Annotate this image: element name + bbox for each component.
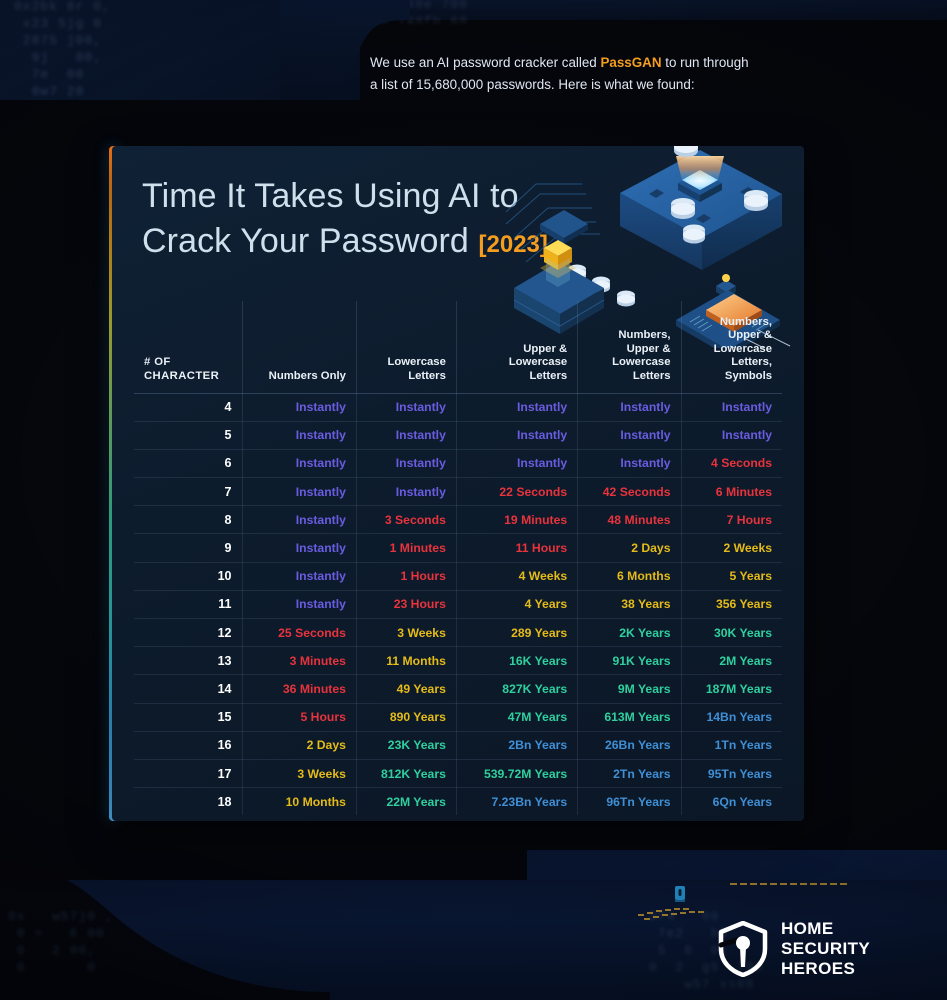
crack-time-cell-0: 5 Hours — [242, 703, 356, 731]
crack-time-cell-2: 11 Hours — [456, 534, 577, 562]
logo-line-1: HOME — [781, 919, 870, 939]
char-count-cell: 6 — [134, 449, 242, 477]
shield-keyhole-icon — [718, 921, 768, 977]
crack-time-cell-3: 96Tn Years — [578, 788, 681, 816]
char-count-cell: 8 — [134, 506, 242, 534]
logo-line-3: HEROES — [781, 959, 870, 979]
crack-time-cell-3: 9M Years — [578, 675, 681, 703]
crack-time-cell-2: Instantly — [456, 421, 577, 449]
crack-time-cell-1: 49 Years — [356, 675, 456, 703]
crack-time-cell-3: Instantly — [578, 421, 681, 449]
char-count-cell: 10 — [134, 562, 242, 590]
column-header-2: LowercaseLetters — [356, 301, 456, 393]
crack-time-cell-3: 91K Years — [578, 647, 681, 675]
table-body: 4InstantlyInstantlyInstantlyInstantlyIns… — [134, 393, 782, 815]
crack-time-cell-4: 5 Years — [681, 562, 782, 590]
logo-line-2: SECURITY — [781, 939, 870, 959]
table-header-row: # OFCHARACTERNumbers OnlyLowercaseLetter… — [134, 301, 782, 393]
bottom-left-code-text: 0x w57j0 , 0 = 6 00 0 2 00, 0 0 — [8, 908, 338, 998]
intro-line2: a list of 15,680,000 passwords. Here is … — [370, 77, 695, 92]
table-row: 9Instantly1 Minutes11 Hours2 Days2 Weeks — [134, 534, 782, 562]
crack-time-cell-3: 38 Years — [578, 590, 681, 618]
password-crack-time-table: # OFCHARACTERNumbers OnlyLowercaseLetter… — [134, 301, 782, 815]
table-row: 4InstantlyInstantlyInstantlyInstantlyIns… — [134, 393, 782, 421]
crack-time-cell-4: 1Tn Years — [681, 731, 782, 759]
table-row: 1436 Minutes49 Years827K Years9M Years18… — [134, 675, 782, 703]
char-count-cell: 4 — [134, 393, 242, 421]
crack-time-cell-1: 1 Minutes — [356, 534, 456, 562]
blue-chip-marker-icon — [670, 882, 690, 906]
char-count-cell: 5 — [134, 421, 242, 449]
crack-time-cell-4: 6Qn Years — [681, 788, 782, 816]
table-row: 11Instantly23 Hours4 Years38 Years356 Ye… — [134, 590, 782, 618]
crack-time-cell-1: Instantly — [356, 449, 456, 477]
table-row: 155 Hours890 Years47M Years613M Years14B… — [134, 703, 782, 731]
crack-time-cell-1: 3 Weeks — [356, 619, 456, 647]
crack-time-cell-1: Instantly — [356, 478, 456, 506]
gold-dash-cluster-right — [730, 876, 870, 892]
crack-time-cell-1: 890 Years — [356, 703, 456, 731]
crack-time-cell-0: Instantly — [242, 421, 356, 449]
crack-time-cell-3: Instantly — [578, 393, 681, 421]
crack-time-cell-1: 22M Years — [356, 788, 456, 816]
crack-time-cell-0: 2 Days — [242, 731, 356, 759]
crack-time-cell-4: 7 Hours — [681, 506, 782, 534]
char-count-cell: 15 — [134, 703, 242, 731]
table-row: 162 Days23K Years2Bn Years26Bn Years1Tn … — [134, 731, 782, 759]
crack-time-cell-0: 10 Months — [242, 788, 356, 816]
crack-time-cell-2: 22 Seconds — [456, 478, 577, 506]
char-count-cell: 18 — [134, 788, 242, 816]
table-row: 1810 Months22M Years7.23Bn Years96Tn Yea… — [134, 788, 782, 816]
crack-time-cell-0: Instantly — [242, 590, 356, 618]
passgan-brand-label: PassGAN — [600, 55, 661, 70]
crack-time-cell-1: 812K Years — [356, 759, 456, 787]
server-platform-small-top — [540, 210, 588, 244]
intro-paragraph: We use an AI password cracker called Pas… — [370, 52, 770, 96]
crack-time-cell-4: Instantly — [681, 421, 782, 449]
brand-logo[interactable]: HOME SECURITY HEROES — [718, 918, 893, 980]
crack-time-cell-3: 42 Seconds — [578, 478, 681, 506]
crack-time-cell-0: Instantly — [242, 393, 356, 421]
crack-time-cell-4: 187M Years — [681, 675, 782, 703]
crack-time-cell-2: 16K Years — [456, 647, 577, 675]
table-row: 6InstantlyInstantlyInstantlyInstantly4 S… — [134, 449, 782, 477]
table-row: 8Instantly3 Seconds19 Minutes48 Minutes7… — [134, 506, 782, 534]
crack-time-cell-4: 356 Years — [681, 590, 782, 618]
crack-time-cell-1: Instantly — [356, 393, 456, 421]
crack-time-cell-4: Instantly — [681, 393, 782, 421]
crack-time-cell-0: 25 Seconds — [242, 619, 356, 647]
char-count-cell: 16 — [134, 731, 242, 759]
crack-time-cell-2: 827K Years — [456, 675, 577, 703]
char-count-cell: 12 — [134, 619, 242, 647]
crack-time-cell-2: 2Bn Years — [456, 731, 577, 759]
crack-time-cell-2: 7.23Bn Years — [456, 788, 577, 816]
crack-time-cell-4: 14Bn Years — [681, 703, 782, 731]
crack-time-cell-1: 23K Years — [356, 731, 456, 759]
table-row: 7InstantlyInstantly22 Seconds42 Seconds6… — [134, 478, 782, 506]
data-table: # OFCHARACTERNumbers OnlyLowercaseLetter… — [134, 301, 782, 815]
title-line-1: Time It Takes Using AI to — [142, 177, 519, 215]
column-header-5: Numbers,Upper &LowercaseLetters,Symbols — [681, 301, 782, 393]
crack-time-cell-0: 3 Minutes — [242, 647, 356, 675]
char-count-cell: 17 — [134, 759, 242, 787]
char-count-cell: 11 — [134, 590, 242, 618]
column-header-3: Upper &LowercaseLetters — [456, 301, 577, 393]
crack-time-cell-3: 2 Days — [578, 534, 681, 562]
crack-time-cell-0: 36 Minutes — [242, 675, 356, 703]
char-count-cell: 14 — [134, 675, 242, 703]
crack-time-cell-0: Instantly — [242, 506, 356, 534]
table-row: 5InstantlyInstantlyInstantlyInstantlyIns… — [134, 421, 782, 449]
crack-time-cell-2: Instantly — [456, 449, 577, 477]
crack-time-cell-4: 2M Years — [681, 647, 782, 675]
crack-time-cell-2: 47M Years — [456, 703, 577, 731]
crack-time-cell-0: Instantly — [242, 534, 356, 562]
crack-time-cell-0: Instantly — [242, 562, 356, 590]
crack-time-cell-2: 4 Years — [456, 590, 577, 618]
column-header-4: Numbers,Upper &LowercaseLetters — [578, 301, 681, 393]
crack-time-cell-4: 2 Weeks — [681, 534, 782, 562]
crack-time-cell-1: Instantly — [356, 421, 456, 449]
char-count-cell: 7 — [134, 478, 242, 506]
crack-time-cell-3: 26Bn Years — [578, 731, 681, 759]
crack-time-cell-2: 19 Minutes — [456, 506, 577, 534]
crack-time-cell-3: 6 Months — [578, 562, 681, 590]
table-row: 10Instantly1 Hours4 Weeks6 Months5 Years — [134, 562, 782, 590]
table-row: 133 Minutes11 Months16K Years91K Years2M… — [134, 647, 782, 675]
intro-line1-b: to run through — [662, 55, 749, 70]
intro-line1-a: We use an AI password cracker called — [370, 55, 600, 70]
top-mid-code-text: 0 240e 700 0 148fb 68, 0x1 79h58 x23 b 0… — [380, 0, 947, 24]
table-head: # OFCHARACTERNumbers OnlyLowercaseLetter… — [134, 301, 782, 393]
crack-time-cell-4: 30K Years — [681, 619, 782, 647]
crack-time-cell-4: 6 Minutes — [681, 478, 782, 506]
crack-time-cell-0: Instantly — [242, 449, 356, 477]
crack-time-cell-1: 3 Seconds — [356, 506, 456, 534]
crack-time-cell-1: 1 Hours — [356, 562, 456, 590]
crack-time-cell-1: 23 Hours — [356, 590, 456, 618]
crack-time-cell-2: 539.72M Years — [456, 759, 577, 787]
crack-time-cell-3: 2K Years — [578, 619, 681, 647]
title-line-2: Crack Your Password — [142, 222, 469, 260]
crack-time-cell-2: 289 Years — [456, 619, 577, 647]
column-header-1: Numbers Only — [242, 301, 356, 393]
crack-time-cell-2: 4 Weeks — [456, 562, 577, 590]
column-header-0: # OFCHARACTER — [134, 301, 242, 393]
crack-time-cell-4: 95Tn Years — [681, 759, 782, 787]
crack-time-cell-4: 4 Seconds — [681, 449, 782, 477]
char-count-cell: 13 — [134, 647, 242, 675]
crack-time-cell-3: Instantly — [578, 449, 681, 477]
table-row: 1225 Seconds3 Weeks289 Years2K Years30K … — [134, 619, 782, 647]
logo-text: HOME SECURITY HEROES — [781, 919, 870, 979]
crack-time-cell-0: 3 Weeks — [242, 759, 356, 787]
crack-time-cell-3: 48 Minutes — [578, 506, 681, 534]
crack-time-cell-1: 11 Months — [356, 647, 456, 675]
crack-time-cell-3: 613M Years — [578, 703, 681, 731]
main-card: Time It Takes Using AI to Crack Your Pas… — [112, 146, 804, 821]
char-count-cell: 9 — [134, 534, 242, 562]
crack-time-cell-2: Instantly — [456, 393, 577, 421]
crack-time-cell-3: 2Tn Years — [578, 759, 681, 787]
table-row: 173 Weeks812K Years539.72M Years2Tn Year… — [134, 759, 782, 787]
crack-time-cell-0: Instantly — [242, 478, 356, 506]
